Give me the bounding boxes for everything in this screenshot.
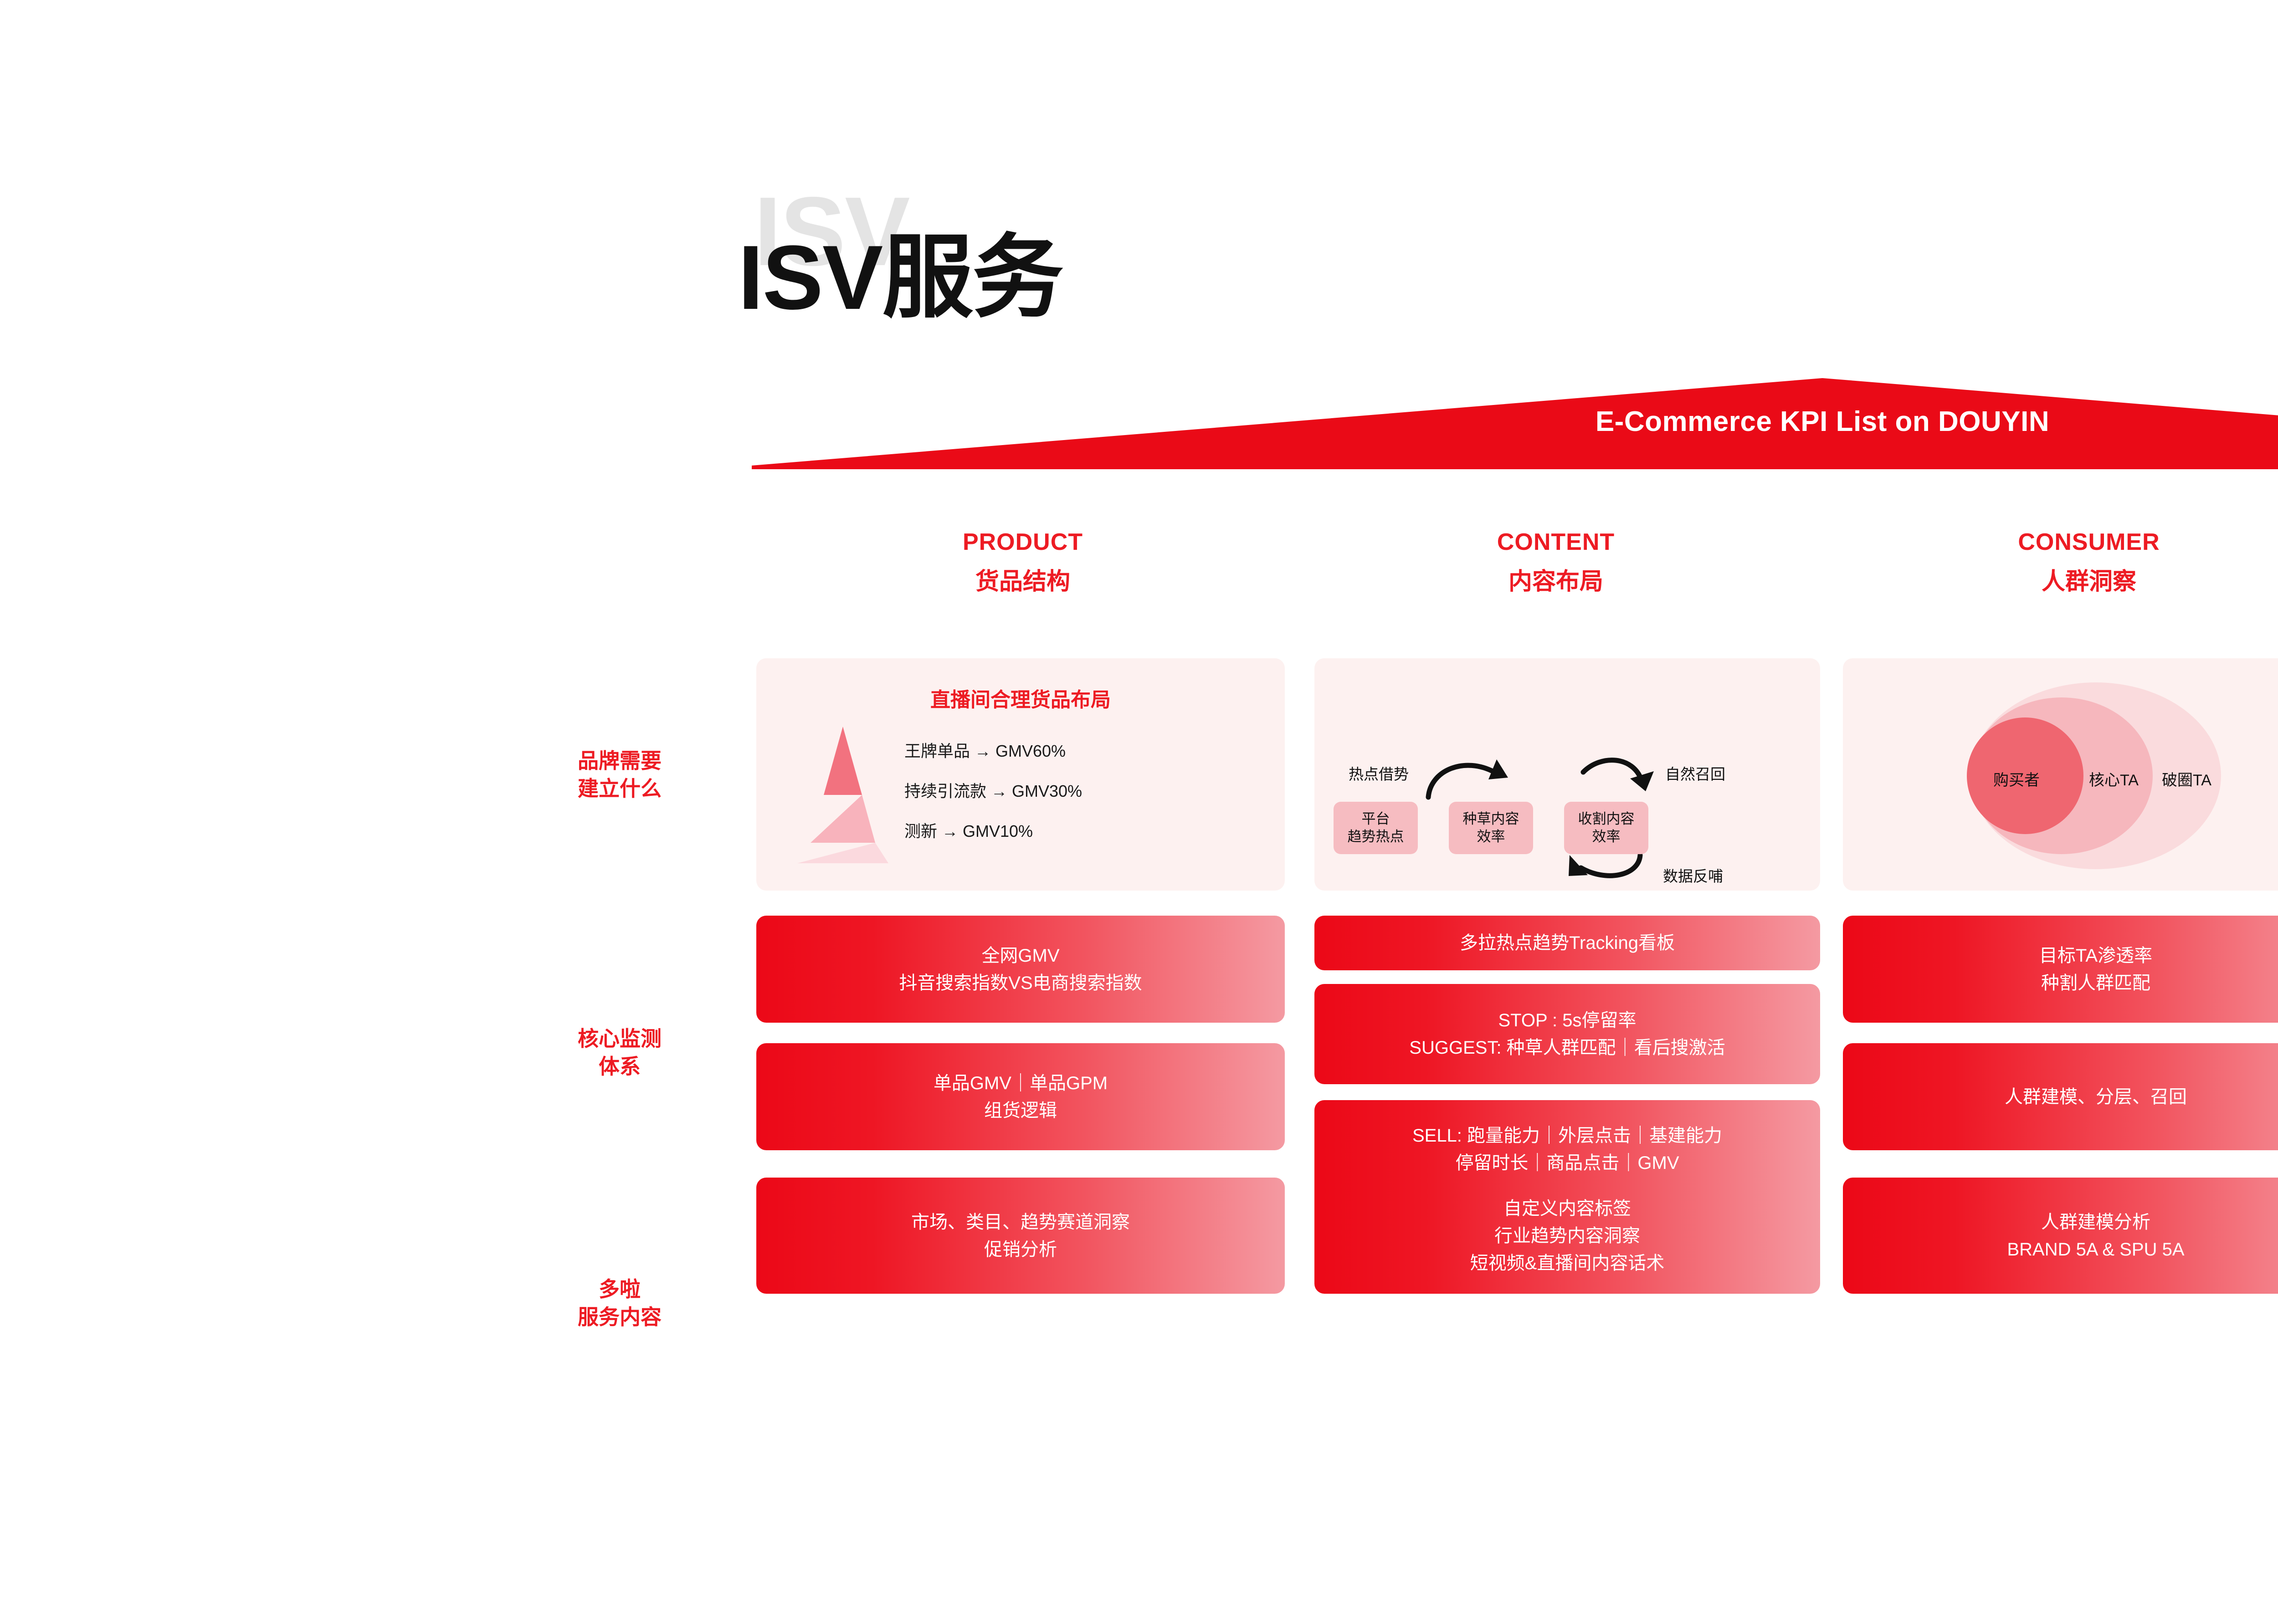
card-line: 组货逻辑 <box>984 1097 1057 1124</box>
flow-box-line1: 种草内容 <box>1463 810 1519 828</box>
card-line: 单品GMV｜单品GPM <box>934 1070 1108 1097</box>
card-consumer-overview[interactable]: 购买者 核心TA 破圈TA <box>1843 658 2278 891</box>
card-content-tracking-board[interactable]: 多拉热点趋势Tracking看板 <box>1314 916 1820 970</box>
card-line: 停留时长｜商品点击｜GMV <box>1455 1149 1679 1177</box>
card-line: SELL: 跑量能力｜外层点击｜基建能力 <box>1412 1122 1722 1149</box>
audience-rings-diagram: 购买者 核心TA 破圈TA <box>1843 658 2278 891</box>
row-label-core-monitoring: 核心监测 体系 <box>501 1025 738 1080</box>
card-content-overview[interactable]: 平台 趋势热点 种草内容 效率 收割内容 效率 <box>1314 658 1820 891</box>
card-product-metrics-2[interactable]: 单品GMV｜单品GPM 组货逻辑 <box>756 1043 1285 1150</box>
kpi-grid: 直播间合理货品布局 王牌单品 → GMV60% 持续引流款 → GMV30% 测… <box>756 658 2278 1405</box>
row-label-service-content: 多啦 服务内容 <box>501 1276 738 1331</box>
column-en-label: CONTENT <box>1289 528 1822 556</box>
row-label-line1: 品牌需要 <box>501 747 738 775</box>
row-label-line2: 体系 <box>501 1053 738 1081</box>
column-en-label: CONSUMER <box>1822 528 2278 556</box>
column-en-label: PRODUCT <box>756 528 1289 556</box>
card-consumer-metrics-2[interactable]: 人群建模、分层、召回 <box>1843 1043 2278 1150</box>
card-content-services[interactable]: 自定义内容标签 行业趋势内容洞察 短视频&直播间内容话术 <box>1314 1178 1820 1294</box>
card-consumer-metrics-1[interactable]: 目标TA渗透率 种割人群匹配 <box>1843 916 2278 1023</box>
content-flow-diagram: 平台 趋势热点 种草内容 效率 收割内容 效率 <box>1314 658 1820 891</box>
column-cn-label: 内容布局 <box>1289 562 1822 596</box>
card-line: 短视频&直播间内容话术 <box>1470 1250 1665 1277</box>
card-product-overview[interactable]: 直播间合理货品布局 王牌单品 → GMV60% 持续引流款 → GMV30% 测… <box>756 658 1285 891</box>
pyramid-tier-label: 持续引流款 → GMV30% <box>904 771 1251 811</box>
ring-label-core-ta: 核心TA <box>2089 768 2139 790</box>
card-line: 自定义内容标签 <box>1503 1195 1631 1222</box>
column-consumer: 购买者 核心TA 破圈TA 目标TA渗透率 种割人群匹配 人群建模、分层、召回 … <box>1843 658 2278 1405</box>
card-line: SUGGEST: 种草人群匹配｜看后搜激活 <box>1409 1034 1725 1061</box>
column-headers: PRODUCT 货品结构 CONTENT 内容布局 CONSUMER 人群洞察 … <box>756 528 2278 620</box>
card-content-stop-suggest[interactable]: STOP : 5s停留率 SUGGEST: 种草人群匹配｜看后搜激活 <box>1314 984 1820 1084</box>
flow-caption-hotspot: 热点借势 <box>1349 762 1409 784</box>
title-text: ISV服务 <box>738 232 1062 323</box>
column-header-content: CONTENT 内容布局 <box>1289 528 1822 620</box>
card-title: 直播间合理货品布局 <box>756 683 1285 712</box>
card-line: 种割人群匹配 <box>2041 969 2150 997</box>
card-line: 市场、类目、趋势赛道洞察 <box>911 1209 1130 1236</box>
card-product-services[interactable]: 市场、类目、趋势赛道洞察 促销分析 <box>756 1178 1285 1294</box>
card-consumer-services[interactable]: 人群建模分析 BRAND 5A & SPU 5A <box>1843 1178 2278 1294</box>
flow-box-line2: 效率 <box>1463 828 1519 846</box>
flow-box-line2: 效率 <box>1578 828 1635 846</box>
roof-banner: E-Commerce KPI List on DOUYIN <box>752 378 2278 469</box>
row-label-line1: 多啦 <box>501 1276 738 1303</box>
card-line: 多拉热点趋势Tracking看板 <box>1460 929 1675 957</box>
card-line: 人群建模、分层、召回 <box>2005 1083 2187 1111</box>
flow-box-line1: 收割内容 <box>1578 810 1635 828</box>
page-title: ISV ISV服务 <box>738 182 1376 333</box>
flow-box-line1: 平台 <box>1348 810 1404 828</box>
card-line: 人群建模分析 <box>2041 1209 2150 1236</box>
card-line: 目标TA渗透率 <box>2039 942 2152 969</box>
column-cn-label: 货品结构 <box>756 562 1289 596</box>
card-line: STOP : 5s停留率 <box>1498 1007 1636 1034</box>
card-line: 抖音搜索指数VS电商搜索指数 <box>899 969 1142 997</box>
column-cn-label: 人群洞察 <box>1822 562 2278 596</box>
column-product: 直播间合理货品布局 王牌单品 → GMV60% 持续引流款 → GMV30% 测… <box>756 658 1285 1405</box>
column-content: 平台 趋势热点 种草内容 效率 收割内容 效率 <box>1314 658 1820 1405</box>
card-line: 行业趋势内容洞察 <box>1494 1222 1640 1250</box>
row-label-line2: 服务内容 <box>501 1303 738 1331</box>
pyramid-tier-label: 王牌单品 → GMV60% <box>904 731 1251 771</box>
card-line: 全网GMV <box>981 942 1059 969</box>
pyramid-tier-label: 测新 → GMV10% <box>904 811 1251 851</box>
ring-label-buyer: 购买者 <box>1993 768 2040 790</box>
flow-box-harvest-efficiency[interactable]: 收割内容 效率 <box>1564 802 1648 854</box>
infographic-page: ISV ISV服务 E-Commerce KPI List on DOUYIN … <box>0 0 2278 1624</box>
flow-box-line2: 趋势热点 <box>1348 828 1404 846</box>
banner-label: E-Commerce KPI List on DOUYIN <box>752 378 2278 469</box>
column-header-consumer: CONSUMER 人群洞察 <box>1822 528 2278 620</box>
row-label-brand-needs: 品牌需要 建立什么 <box>501 747 738 802</box>
flow-box-seeding-efficiency[interactable]: 种草内容 效率 <box>1449 802 1533 854</box>
card-line: 促销分析 <box>984 1236 1057 1263</box>
row-label-line2: 建立什么 <box>501 775 738 803</box>
pyramid-icon <box>795 727 891 863</box>
concentric-ellipses <box>1843 658 2278 891</box>
flow-caption-organic-recall: 自然召回 <box>1665 762 1725 784</box>
card-line: BRAND 5A & SPU 5A <box>2007 1236 2184 1263</box>
column-header-product: PRODUCT 货品结构 <box>756 528 1289 620</box>
flow-caption-data-feedback: 数据反哺 <box>1663 864 1723 886</box>
row-label-line1: 核心监测 <box>501 1025 738 1053</box>
ring-label-breakout-ta: 破圈TA <box>2162 768 2211 790</box>
flow-box-platform-trend[interactable]: 平台 趋势热点 <box>1334 802 1418 854</box>
pyramid-chart: 王牌单品 → GMV60% 持续引流款 → GMV30% 测新 → GMV10% <box>784 727 1257 872</box>
pyramid-tier-labels: 王牌单品 → GMV60% 持续引流款 → GMV30% 测新 → GMV10% <box>904 731 1251 852</box>
card-product-metrics-1[interactable]: 全网GMV 抖音搜索指数VS电商搜索指数 <box>756 916 1285 1023</box>
